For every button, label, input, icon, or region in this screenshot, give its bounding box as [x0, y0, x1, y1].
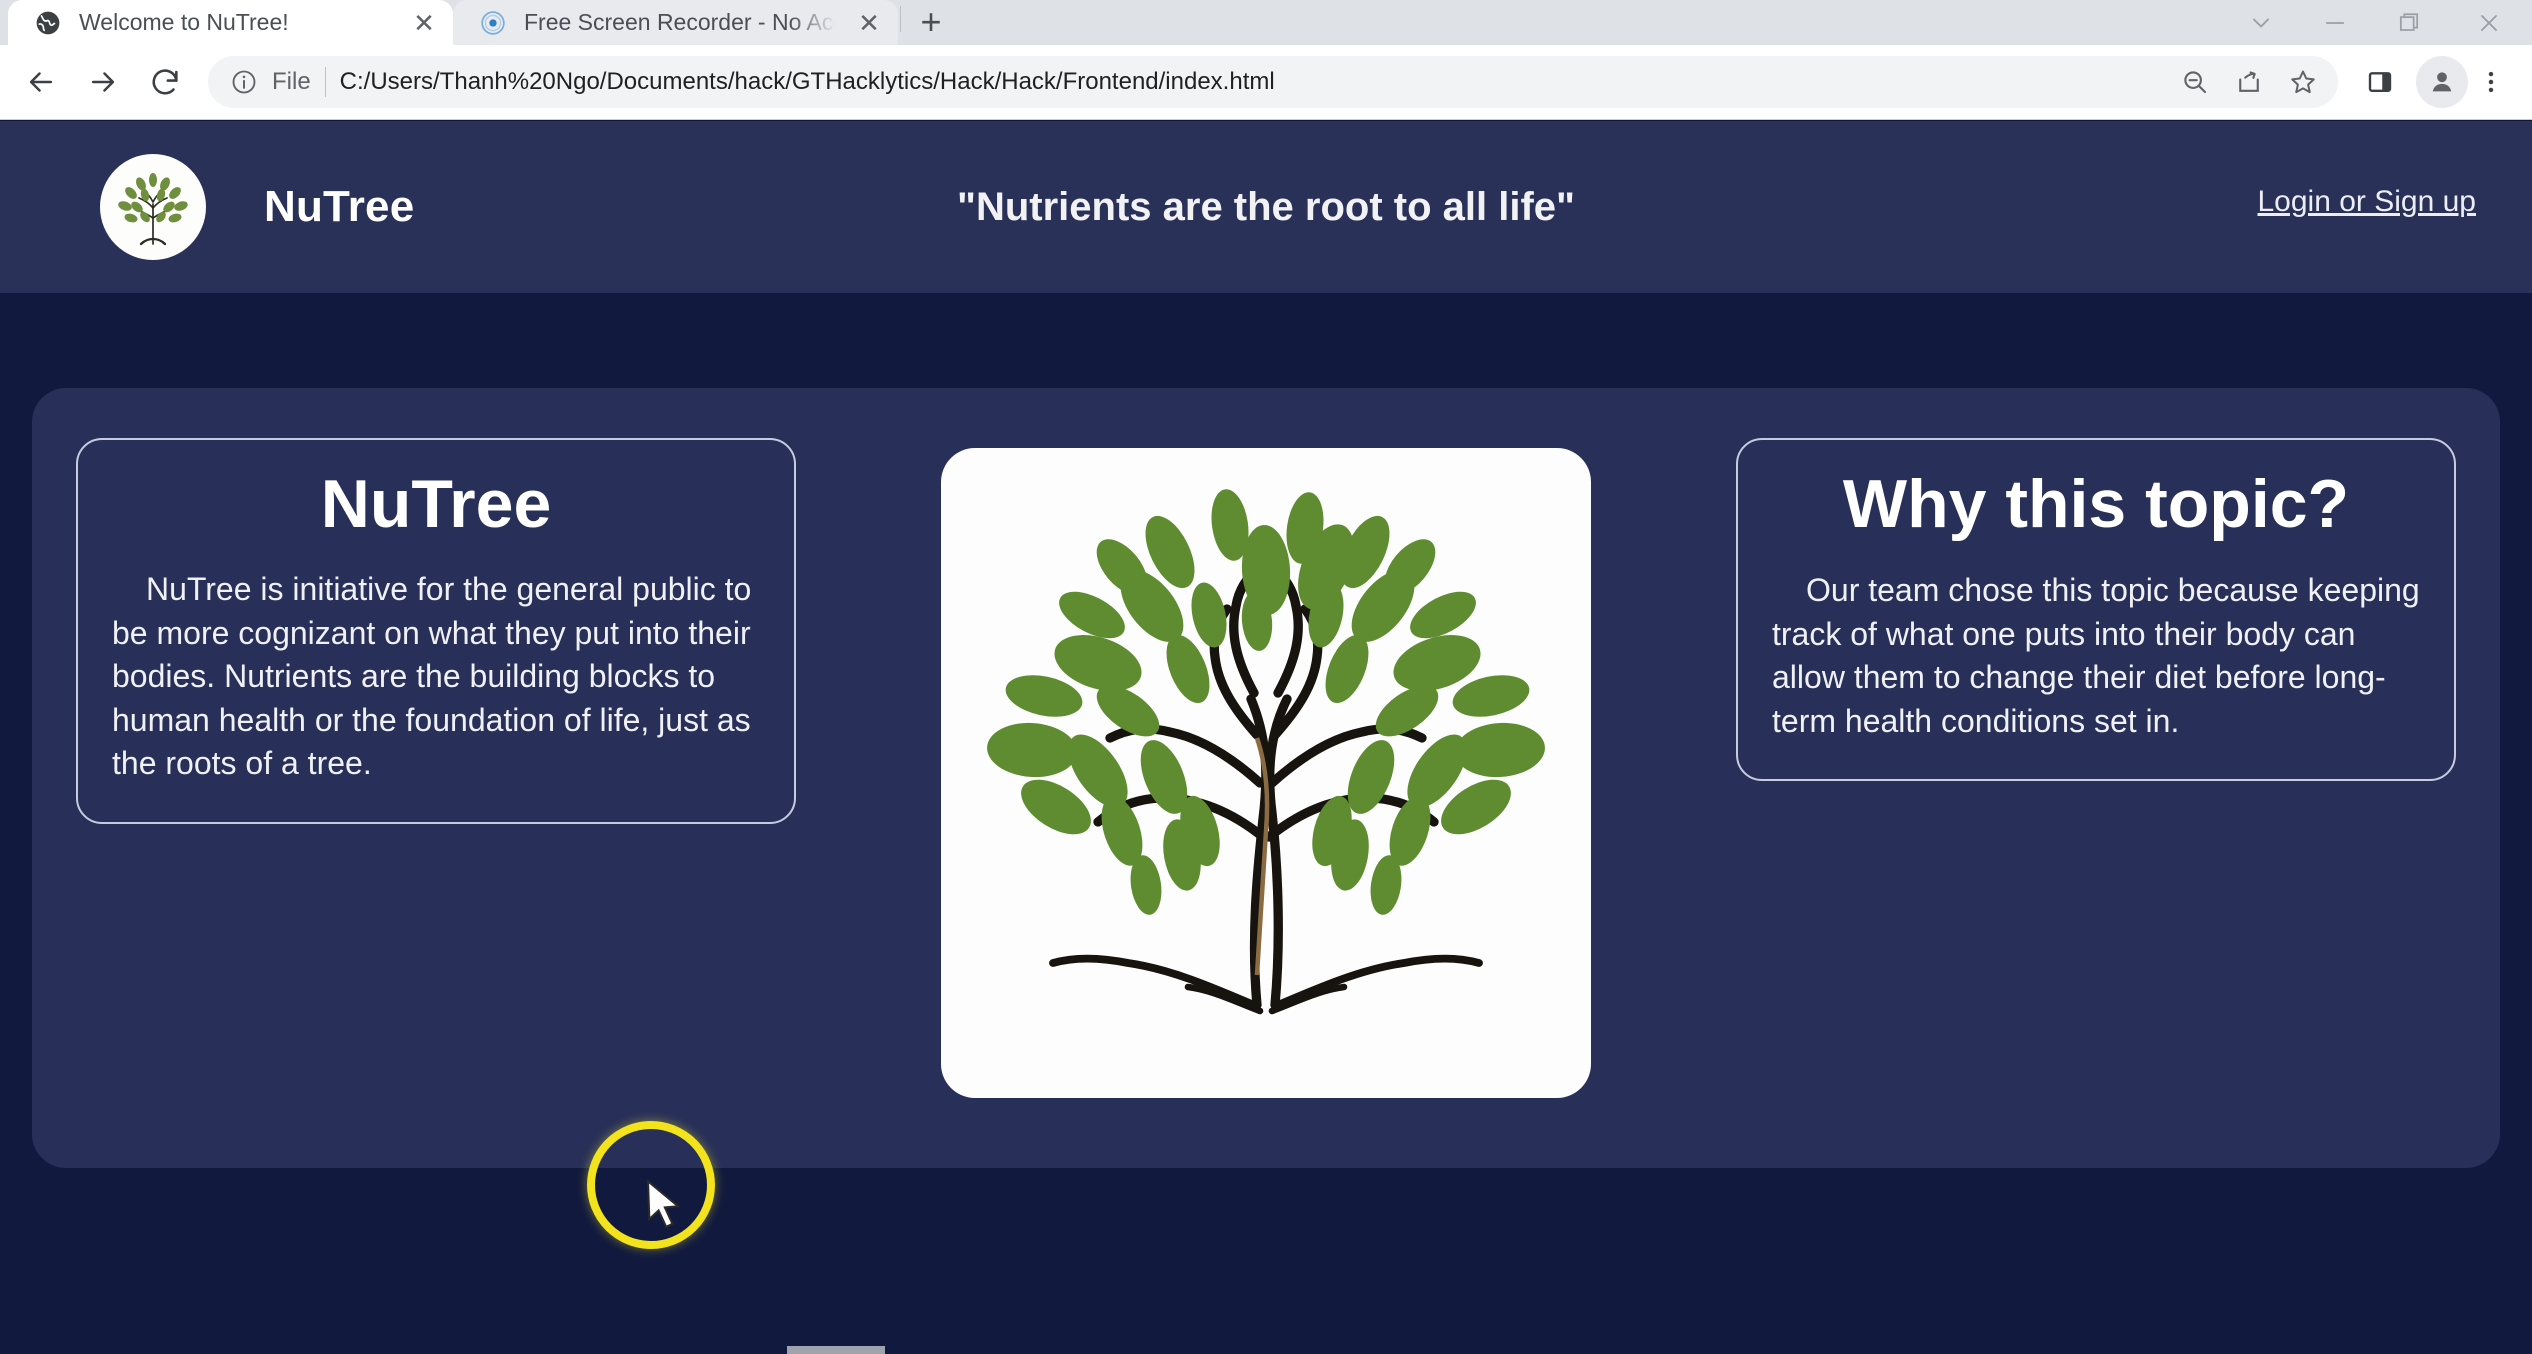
info-card-why-this-topic: Why this topic? Our team chose this topi… [1736, 438, 2456, 781]
tab-title: Welcome to NuTree! [79, 9, 391, 36]
tab-close-button[interactable]: ✕ [854, 8, 884, 38]
tab-separator [900, 6, 901, 32]
reload-button[interactable] [134, 51, 196, 113]
new-tab-button[interactable]: + [903, 0, 959, 44]
tree-illustration-panel [941, 448, 1591, 1098]
card-body-text: Our team chose this topic because keepin… [1772, 569, 2420, 743]
tree-illustration-icon [966, 471, 1566, 1076]
omnibox-actions [2170, 57, 2328, 107]
info-circle-icon[interactable] [230, 68, 258, 96]
card-body-text: NuTree is initiative for the general pub… [112, 568, 760, 786]
tab-search-chevron-down-icon[interactable] [2224, 0, 2298, 45]
taskbar-peek [787, 1346, 885, 1354]
hero-section-wrapper: NuTree NuTree is initiative for the gene… [0, 293, 2532, 1168]
mouse-cursor-icon [645, 1179, 685, 1238]
zoom-out-icon[interactable] [2170, 57, 2220, 107]
url-text[interactable]: C:/Users/Thanh%20Ngo/Documents/hack/GTHa… [340, 68, 1275, 96]
side-panel-icon[interactable] [2352, 54, 2408, 110]
brand-name: NuTree [264, 182, 414, 232]
tab-close-button[interactable]: ✕ [409, 8, 439, 38]
url-scheme-label: File [272, 68, 311, 96]
globe-icon [34, 9, 61, 36]
share-icon[interactable] [2224, 57, 2274, 107]
browser-tab-free-screen-recorder[interactable]: Free Screen Recorder - No Accou ✕ [453, 0, 898, 45]
omnibox-divider [325, 67, 326, 97]
profile-person-icon[interactable] [2416, 56, 2468, 108]
bookmark-star-icon[interactable] [2278, 57, 2328, 107]
page-viewport: NuTree "Nutrients are the root to all li… [0, 121, 2532, 1354]
window-controls [2224, 0, 2532, 45]
card-title: Why this topic? [1772, 470, 2420, 539]
card-title: NuTree [112, 470, 760, 538]
browser-window: Welcome to NuTree! ✕ Free Screen Recorde… [0, 0, 2532, 1354]
three-dot-menu-icon[interactable] [2468, 54, 2514, 110]
login-or-signup-link[interactable]: Login or Sign up [2258, 185, 2477, 229]
tab-strip: Welcome to NuTree! ✕ Free Screen Recorde… [0, 0, 2532, 45]
site-header: NuTree "Nutrients are the root to all li… [0, 121, 2532, 293]
brand-group[interactable]: NuTree [100, 154, 414, 260]
address-bar[interactable]: File C:/Users/Thanh%20Ngo/Documents/hack… [208, 56, 2338, 108]
minimize-button[interactable] [2298, 0, 2372, 45]
close-window-button[interactable] [2446, 0, 2532, 45]
recorder-icon [479, 9, 506, 36]
tab-title: Free Screen Recorder - No Accou [524, 9, 836, 36]
back-button[interactable] [10, 51, 72, 113]
tree-logo-icon [100, 154, 206, 260]
forward-button[interactable] [72, 51, 134, 113]
browser-tab-welcome-to-nutree[interactable]: Welcome to NuTree! ✕ [8, 0, 453, 45]
maximize-restore-button[interactable] [2372, 0, 2446, 45]
hero-panel: NuTree NuTree is initiative for the gene… [32, 388, 2500, 1168]
info-card-nutree: NuTree NuTree is initiative for the gene… [76, 438, 796, 824]
browser-toolbar: File C:/Users/Thanh%20Ngo/Documents/hack… [0, 45, 2532, 120]
